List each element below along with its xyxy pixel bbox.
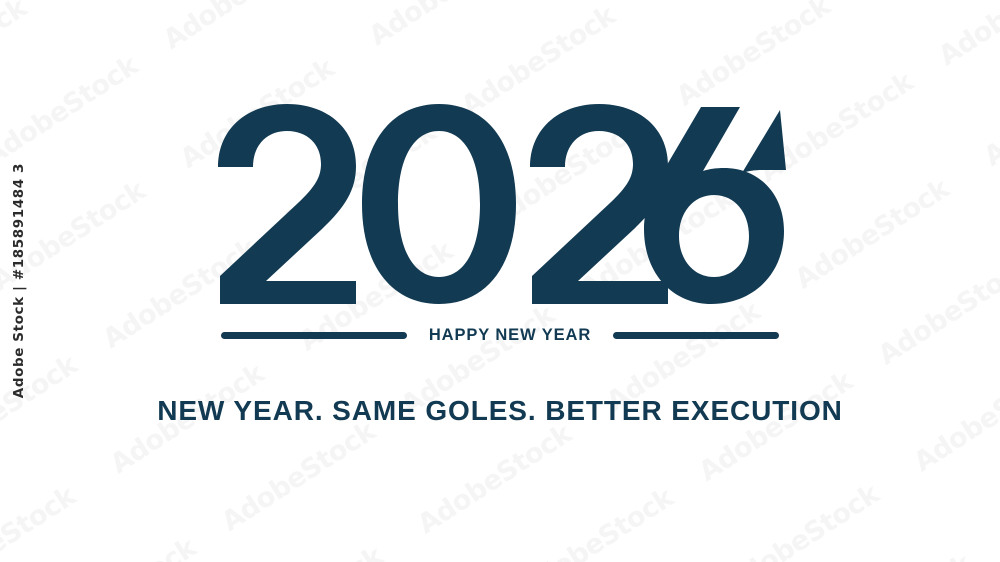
subtitle-divider-row: HAPPY NEW YEAR bbox=[0, 327, 1000, 344]
poster-canvas: AdobeStockAdobeStockAdobeStockAdobeStock… bbox=[0, 0, 1000, 562]
stock-credit-text: Adobe Stock | #185891484 3 bbox=[11, 163, 27, 398]
divider-rule-right bbox=[613, 332, 779, 339]
divider-rule-left bbox=[221, 332, 407, 339]
tagline-text: NEW YEAR. SAME GOLES. BETTER EXECUTION bbox=[0, 396, 1000, 427]
year-2026-glyphs bbox=[214, 104, 786, 304]
new-year-artwork: HAPPY NEW YEAR NEW YEAR. SAME GOLES. BET… bbox=[0, 0, 1000, 562]
year-headline bbox=[0, 104, 1000, 304]
subtitle-happy-new-year: HAPPY NEW YEAR bbox=[407, 327, 613, 344]
stock-credit-label: Adobe Stock | #185891484 3 bbox=[4, 0, 34, 562]
